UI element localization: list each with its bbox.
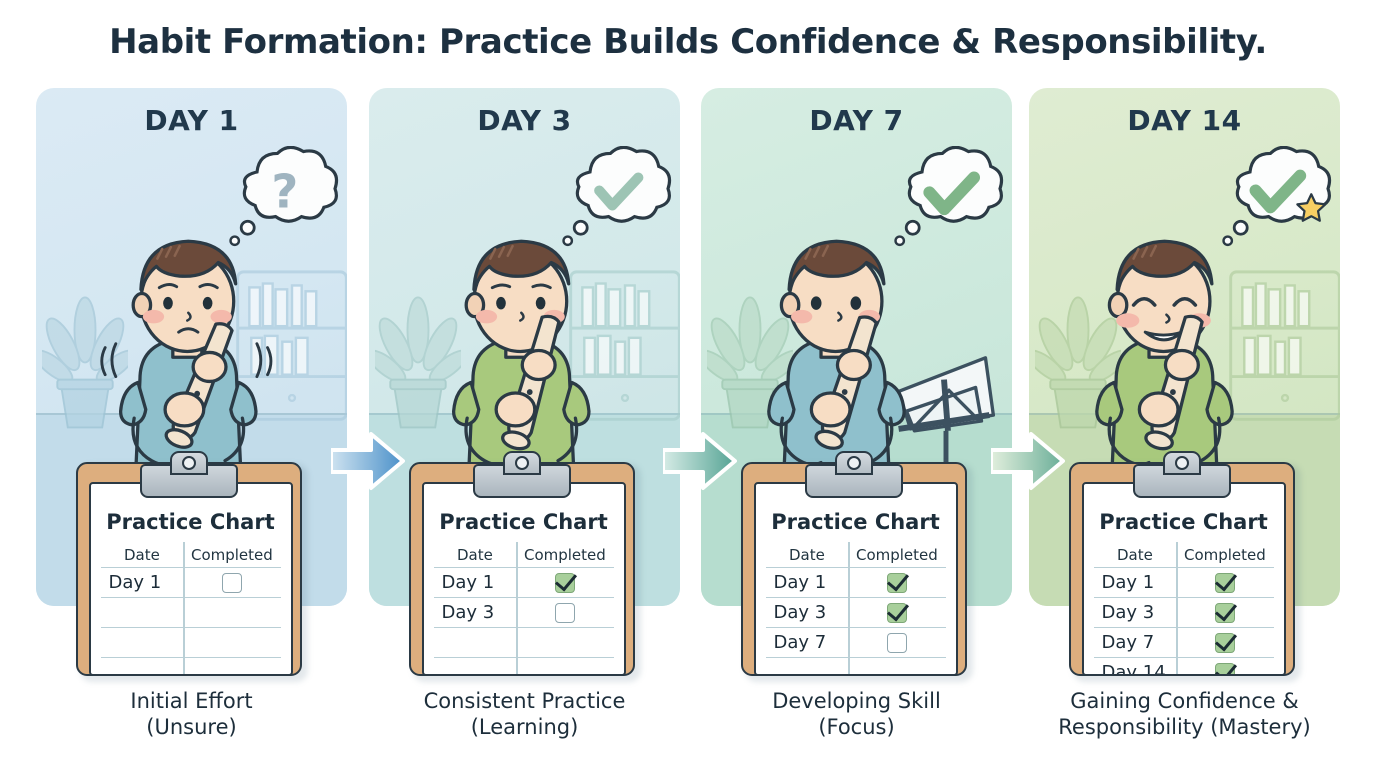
arrow-3-to-4-icon	[991, 430, 1065, 492]
row-checkbox-cell[interactable]	[1176, 573, 1273, 593]
caption-line-2: (Focus)	[701, 714, 1012, 740]
checkbox-checked[interactable]	[555, 573, 575, 593]
page-title: Habit Formation: Practice Builds Confide…	[0, 22, 1376, 62]
caption-line-1: Initial Effort	[130, 689, 252, 713]
thought-bubble-question: ?	[227, 146, 339, 250]
table-rows: Day 1 Day 3	[434, 567, 614, 676]
row-date: Day 1	[101, 572, 184, 593]
caption-line-1: Gaining Confidence &	[1070, 689, 1299, 713]
clipboard-board: Practice Chart Date Completed Day 1	[409, 462, 635, 676]
table-row[interactable]: Day 1	[434, 567, 614, 597]
arrow-2-to-3-icon	[663, 430, 737, 492]
table-rows: Day 1	[101, 567, 281, 676]
header-date: Date	[766, 546, 849, 564]
table-row[interactable]: Day 3	[1094, 597, 1274, 627]
day-label: DAY 3	[369, 104, 680, 137]
caption-line-2: (Unsure)	[36, 714, 347, 740]
thought-bubble-check	[560, 146, 672, 250]
caption-day-7: Developing Skill (Focus)	[701, 688, 1012, 740]
header-date: Date	[434, 546, 517, 564]
clipboard-title: Practice Chart	[1084, 510, 1284, 534]
row-date: Day 7	[1094, 632, 1177, 653]
caption-day-14: Gaining Confidence & Responsibility (Mas…	[1029, 688, 1340, 740]
clipboard-clip	[1133, 464, 1231, 498]
table-divider	[516, 542, 518, 676]
checkbox-checked[interactable]	[1215, 573, 1235, 593]
thought-bubble-check	[892, 146, 1004, 250]
table-divider	[848, 542, 850, 676]
clipboard-title: Practice Chart	[91, 510, 291, 534]
clipboard-day-1: Practice Chart Date Completed Day 1	[76, 454, 308, 682]
practice-table: Date Completed Day 1	[766, 540, 946, 668]
clipboard-board: Practice Chart Date Completed Day 1	[1069, 462, 1295, 676]
day-label: DAY 14	[1029, 104, 1340, 137]
caption-line-1: Consistent Practice	[424, 689, 626, 713]
checkbox-checked[interactable]	[1215, 603, 1235, 623]
clipboard-paper: Practice Chart Date Completed Day 1	[89, 482, 293, 676]
row-checkbox-cell[interactable]	[183, 573, 280, 593]
day-label: DAY 1	[36, 104, 347, 137]
checkbox-unchecked[interactable]	[887, 633, 907, 653]
checkbox-unchecked[interactable]	[222, 573, 242, 593]
table-row[interactable]: Day 3	[766, 597, 946, 627]
arrow-1-to-2-icon	[331, 430, 405, 492]
header-completed: Completed	[848, 546, 945, 564]
table-row-empty	[101, 657, 281, 676]
table-row-empty	[434, 627, 614, 657]
header-completed: Completed	[183, 546, 280, 564]
table-header: Date Completed	[1094, 540, 1274, 564]
checkbox-checked[interactable]	[887, 573, 907, 593]
row-date: Day 14	[1094, 662, 1177, 676]
table-divider	[183, 542, 185, 676]
row-checkbox-cell[interactable]	[1176, 603, 1273, 623]
caption-line-2: Responsibility (Mastery)	[1029, 714, 1340, 740]
table-row[interactable]: Day 14	[1094, 657, 1274, 676]
clipboard-title: Practice Chart	[424, 510, 624, 534]
clipboard-board: Practice Chart Date Completed Day 1	[741, 462, 967, 676]
clipboard-board: Practice Chart Date Completed Day 1	[76, 462, 302, 676]
caption-line-1: Developing Skill	[772, 689, 941, 713]
panel-day-3: DAY 3 Practice Chart Date Completed	[369, 88, 680, 606]
row-checkbox-cell[interactable]	[1176, 663, 1273, 677]
panel-day-7: DAY 7 Practice Chart Date Completed	[701, 88, 1012, 606]
table-row[interactable]: Day 1	[766, 567, 946, 597]
table-row[interactable]: Day 1	[1094, 567, 1274, 597]
row-date: Day 3	[434, 602, 517, 623]
table-row[interactable]: Day 7	[1094, 627, 1274, 657]
practice-table: Date Completed Day 1	[1094, 540, 1274, 668]
row-date: Day 7	[766, 632, 849, 653]
row-checkbox-cell[interactable]	[516, 573, 613, 593]
row-date: Day 1	[434, 572, 517, 593]
checkbox-checked[interactable]	[887, 603, 907, 623]
row-checkbox-cell[interactable]	[516, 603, 613, 623]
table-header: Date Completed	[101, 540, 281, 564]
thought-bubble-check-star	[1220, 146, 1332, 250]
table-divider	[1176, 542, 1178, 676]
table-header: Date Completed	[434, 540, 614, 564]
panel-day-14: DAY 14 Practice Chart Date Completed	[1029, 88, 1340, 606]
table-row-empty	[101, 627, 281, 657]
table-rows: Day 1 Day 3	[1094, 567, 1274, 676]
table-row[interactable]: Day 3	[434, 597, 614, 627]
clipboard-clip	[473, 464, 571, 498]
checkbox-checked[interactable]	[1215, 633, 1235, 653]
infographic-root: Habit Formation: Practice Builds Confide…	[0, 0, 1376, 768]
clipboard-day-3: Practice Chart Date Completed Day 1	[409, 454, 641, 682]
clipboard-title: Practice Chart	[756, 510, 956, 534]
panels-row: ? DAY 1 Practice Chart Date Completed	[36, 88, 1340, 608]
day-label: DAY 7	[701, 104, 1012, 137]
table-row[interactable]: Day 1	[101, 567, 281, 597]
clipboard-clip	[805, 464, 903, 498]
table-rows: Day 1 Day 3	[766, 567, 946, 676]
header-date: Date	[1094, 546, 1177, 564]
practice-table: Date Completed Day 1	[434, 540, 614, 668]
table-row-empty	[101, 597, 281, 627]
panel-day-1: ? DAY 1 Practice Chart Date Completed	[36, 88, 347, 606]
row-date: Day 3	[766, 602, 849, 623]
row-date: Day 1	[1094, 572, 1177, 593]
practice-table: Date Completed Day 1	[101, 540, 281, 668]
table-row[interactable]: Day 7	[766, 627, 946, 657]
table-row-empty	[766, 657, 946, 676]
checkbox-unchecked[interactable]	[555, 603, 575, 623]
header-date: Date	[101, 546, 184, 564]
caption-day-1: Initial Effort (Unsure)	[36, 688, 347, 740]
clipboard-paper: Practice Chart Date Completed Day 1	[422, 482, 626, 676]
row-date: Day 1	[766, 572, 849, 593]
row-checkbox-cell[interactable]	[1176, 633, 1273, 653]
table-header: Date Completed	[766, 540, 946, 564]
clipboard-day-14: Practice Chart Date Completed Day 1	[1069, 454, 1301, 682]
header-completed: Completed	[1176, 546, 1273, 564]
clipboard-day-7: Practice Chart Date Completed Day 1	[741, 454, 973, 682]
caption-day-3: Consistent Practice (Learning)	[369, 688, 680, 740]
svg-text:?: ?	[271, 164, 298, 218]
header-completed: Completed	[516, 546, 613, 564]
row-checkbox-cell[interactable]	[848, 573, 945, 593]
table-row-empty	[434, 657, 614, 676]
row-date: Day 3	[1094, 602, 1177, 623]
clipboard-clip	[140, 464, 238, 498]
row-checkbox-cell[interactable]	[848, 603, 945, 623]
clipboard-paper: Practice Chart Date Completed Day 1	[754, 482, 958, 676]
row-checkbox-cell[interactable]	[848, 633, 945, 653]
captions-row: Initial Effort (Unsure) Consistent Pract…	[36, 688, 1340, 758]
checkbox-checked[interactable]	[1215, 663, 1235, 677]
caption-line-2: (Learning)	[369, 714, 680, 740]
clipboard-paper: Practice Chart Date Completed Day 1	[1082, 482, 1286, 676]
